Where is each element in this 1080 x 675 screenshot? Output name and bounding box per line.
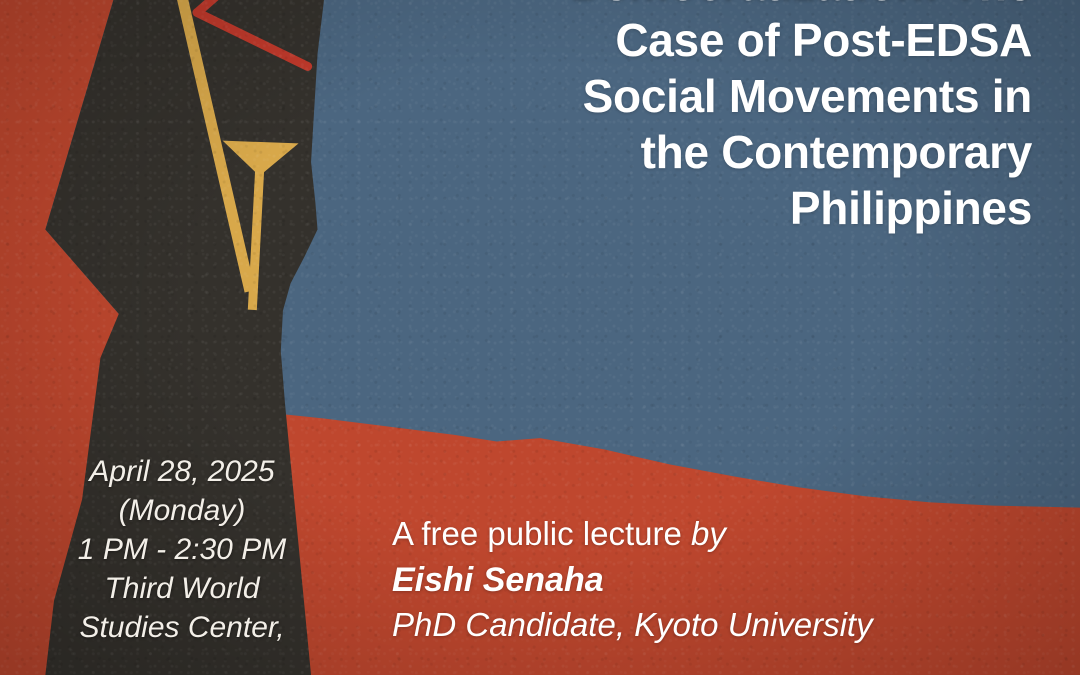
lecture-byline: A free public lecture by — [392, 513, 873, 556]
title-line: Philippines — [392, 180, 1032, 236]
event-venue-line-2: Studies Center, — [62, 608, 302, 647]
lecture-byline-by: by — [691, 515, 726, 552]
event-details: April 28, 2025 (Monday) 1 PM - 2:30 PM T… — [62, 452, 302, 647]
red-sleeve-chevron-left-icon — [191, 6, 314, 72]
event-poster: Democratization: The Case of Post-EDSA S… — [0, 0, 1080, 675]
title-line: Social Movements in — [392, 68, 1032, 124]
event-date: April 28, 2025 — [62, 452, 302, 491]
title-line: Democratization: The — [392, 0, 1032, 12]
event-time: 1 PM - 2:30 PM — [62, 530, 302, 569]
speaker-block: A free public lecture by Eishi Senaha Ph… — [392, 513, 873, 647]
event-venue-line-1: Third World — [62, 569, 302, 608]
page-title: Democratization: The Case of Post-EDSA S… — [392, 0, 1032, 237]
event-day: (Monday) — [62, 491, 302, 530]
lecture-byline-lead: A free public lecture — [392, 515, 691, 552]
title-line: Case of Post-EDSA — [392, 12, 1032, 68]
speaker-affiliation: PhD Candidate, Kyoto University — [392, 604, 873, 647]
title-line: the Contemporary — [392, 124, 1032, 180]
speaker-name: Eishi Senaha — [392, 556, 873, 604]
